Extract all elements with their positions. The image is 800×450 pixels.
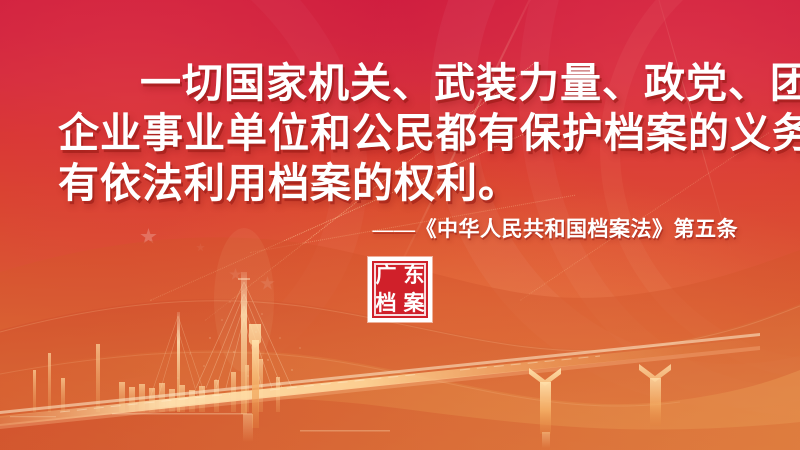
seal-char-4: 案 bbox=[400, 290, 428, 319]
bridge-tower-far bbox=[150, 312, 206, 412]
bridge-tower-main bbox=[196, 228, 292, 414]
bridge-deck bbox=[0, 333, 760, 429]
quote-line-3: 有依法利用档案的权利。 bbox=[0, 158, 800, 208]
archive-seal-stamp: 广 东 档 案 bbox=[368, 257, 432, 322]
sparkle-dots bbox=[178, 302, 313, 381]
star-decor-3 bbox=[260, 276, 275, 291]
skyline-buildings bbox=[33, 344, 280, 412]
poster-canvas: 一切国家机关、武装力量、政党、团体、 企业事业单位和公民都有保护档案的义务，享 … bbox=[0, 0, 800, 450]
bridge-skyline-illustration bbox=[0, 220, 800, 450]
wave-hills-layer bbox=[0, 220, 800, 450]
seal-body: 广 东 档 案 bbox=[372, 261, 428, 318]
water-reflections bbox=[10, 413, 550, 448]
quote-attribution: ——《中华人民共和国档案法》第五条 bbox=[0, 214, 800, 244]
seal-char-2: 东 bbox=[400, 261, 428, 290]
quote-block: 一切国家机关、武装力量、政党、团体、 企业事业单位和公民都有保护档案的义务，享 … bbox=[0, 58, 800, 244]
seal-char-1: 广 bbox=[372, 261, 400, 290]
seal-char-3: 档 bbox=[372, 290, 400, 319]
star-decor-2 bbox=[229, 268, 242, 281]
quote-line-1: 一切国家机关、武装力量、政党、团体、 bbox=[0, 58, 800, 108]
quote-line-2: 企业事业单位和公民都有保护档案的义务，享 bbox=[0, 108, 800, 158]
bridge-piers bbox=[249, 324, 671, 434]
star-decor-4 bbox=[196, 243, 205, 252]
